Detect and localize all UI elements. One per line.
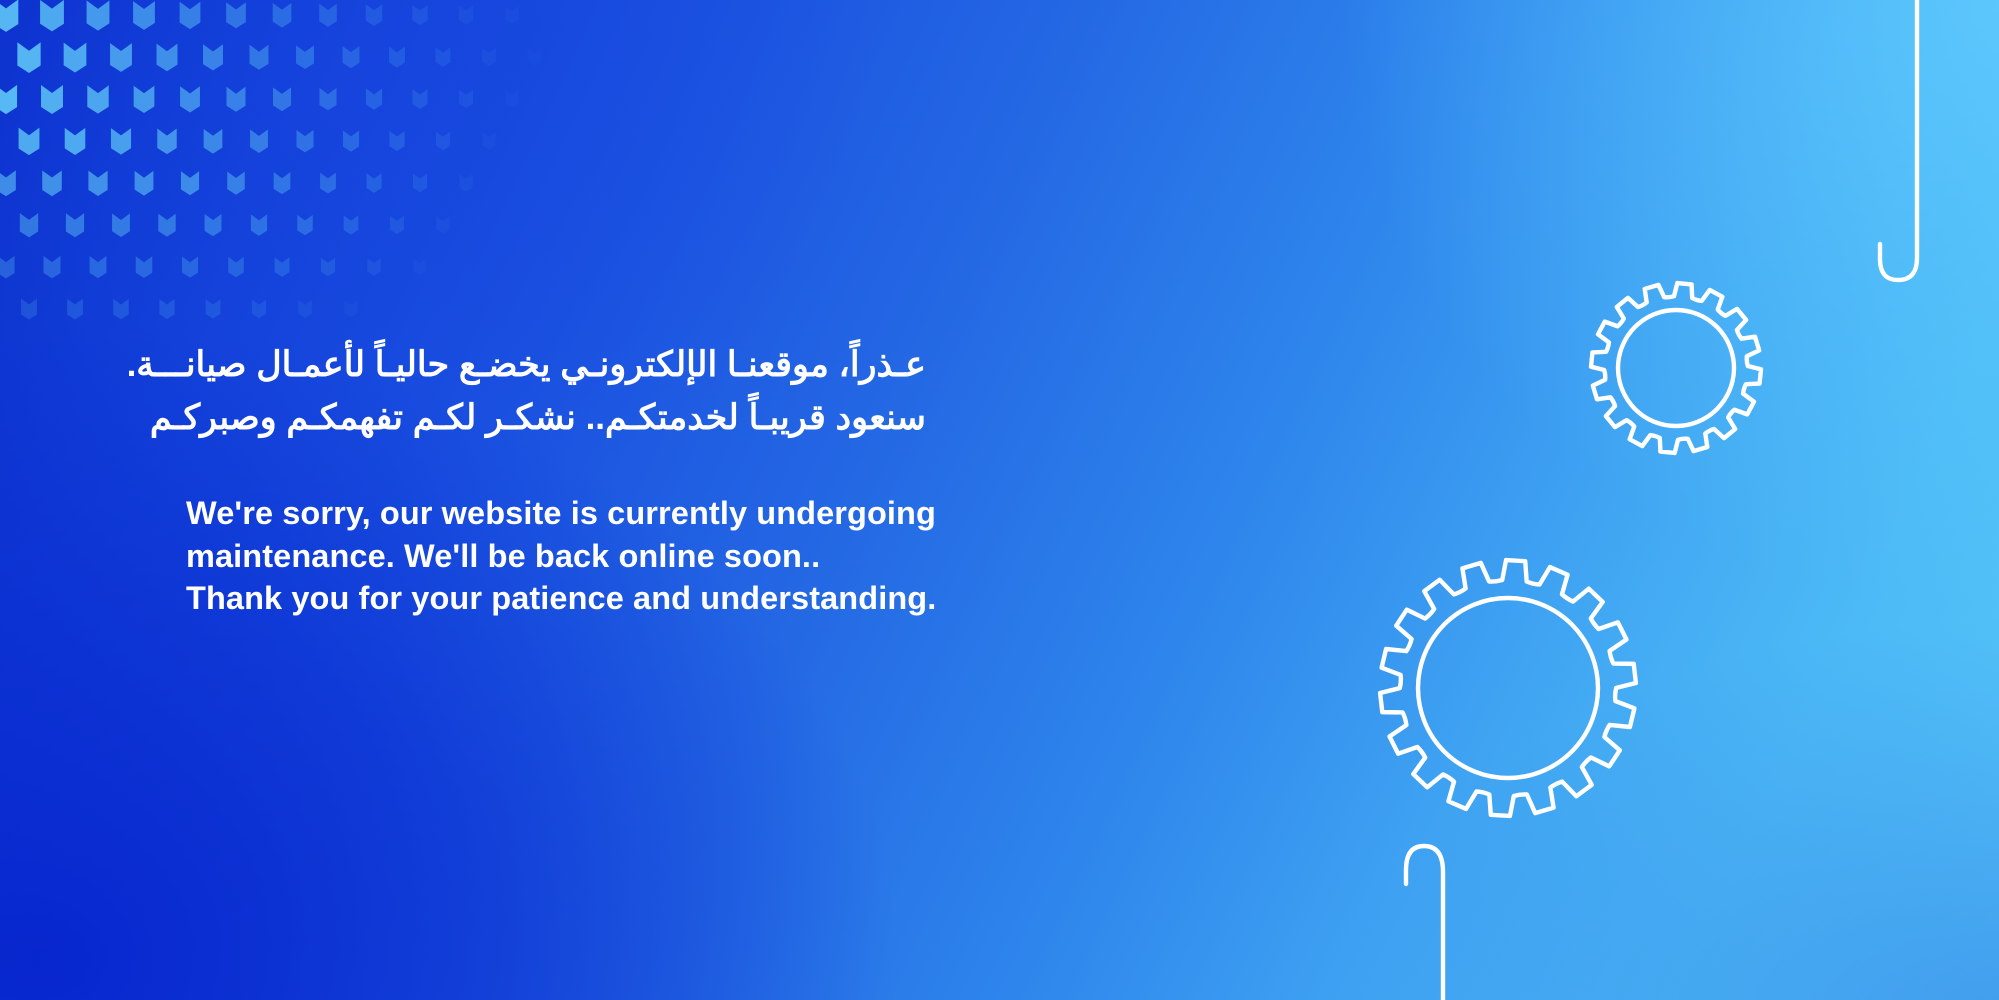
english-message: We're sorry, our website is currently un… (186, 492, 1186, 620)
message-block: عـذراً، موقعنـا الإلكترونـي يخضـع حاليـا… (186, 338, 1186, 620)
arabic-message: عـذراً، موقعنـا الإلكترونـي يخضـع حاليـا… (186, 338, 1186, 444)
english-line-3: Thank you for your patience and understa… (186, 577, 1186, 620)
maintenance-page: عـذراً، موقعنـا الإلكترونـي يخضـع حاليـا… (0, 0, 1999, 1000)
english-line-2: maintenance. We'll be back online soon.. (186, 535, 1186, 578)
english-line-1: We're sorry, our website is currently un… (186, 492, 1186, 535)
arabic-line-1: عـذراً، موقعنـا الإلكترونـي يخضـع حاليـا… (186, 338, 926, 391)
arabic-line-2: سنعود قريبـاً لخدمتكـم.. نشكـر لكـم تفهم… (186, 391, 926, 444)
